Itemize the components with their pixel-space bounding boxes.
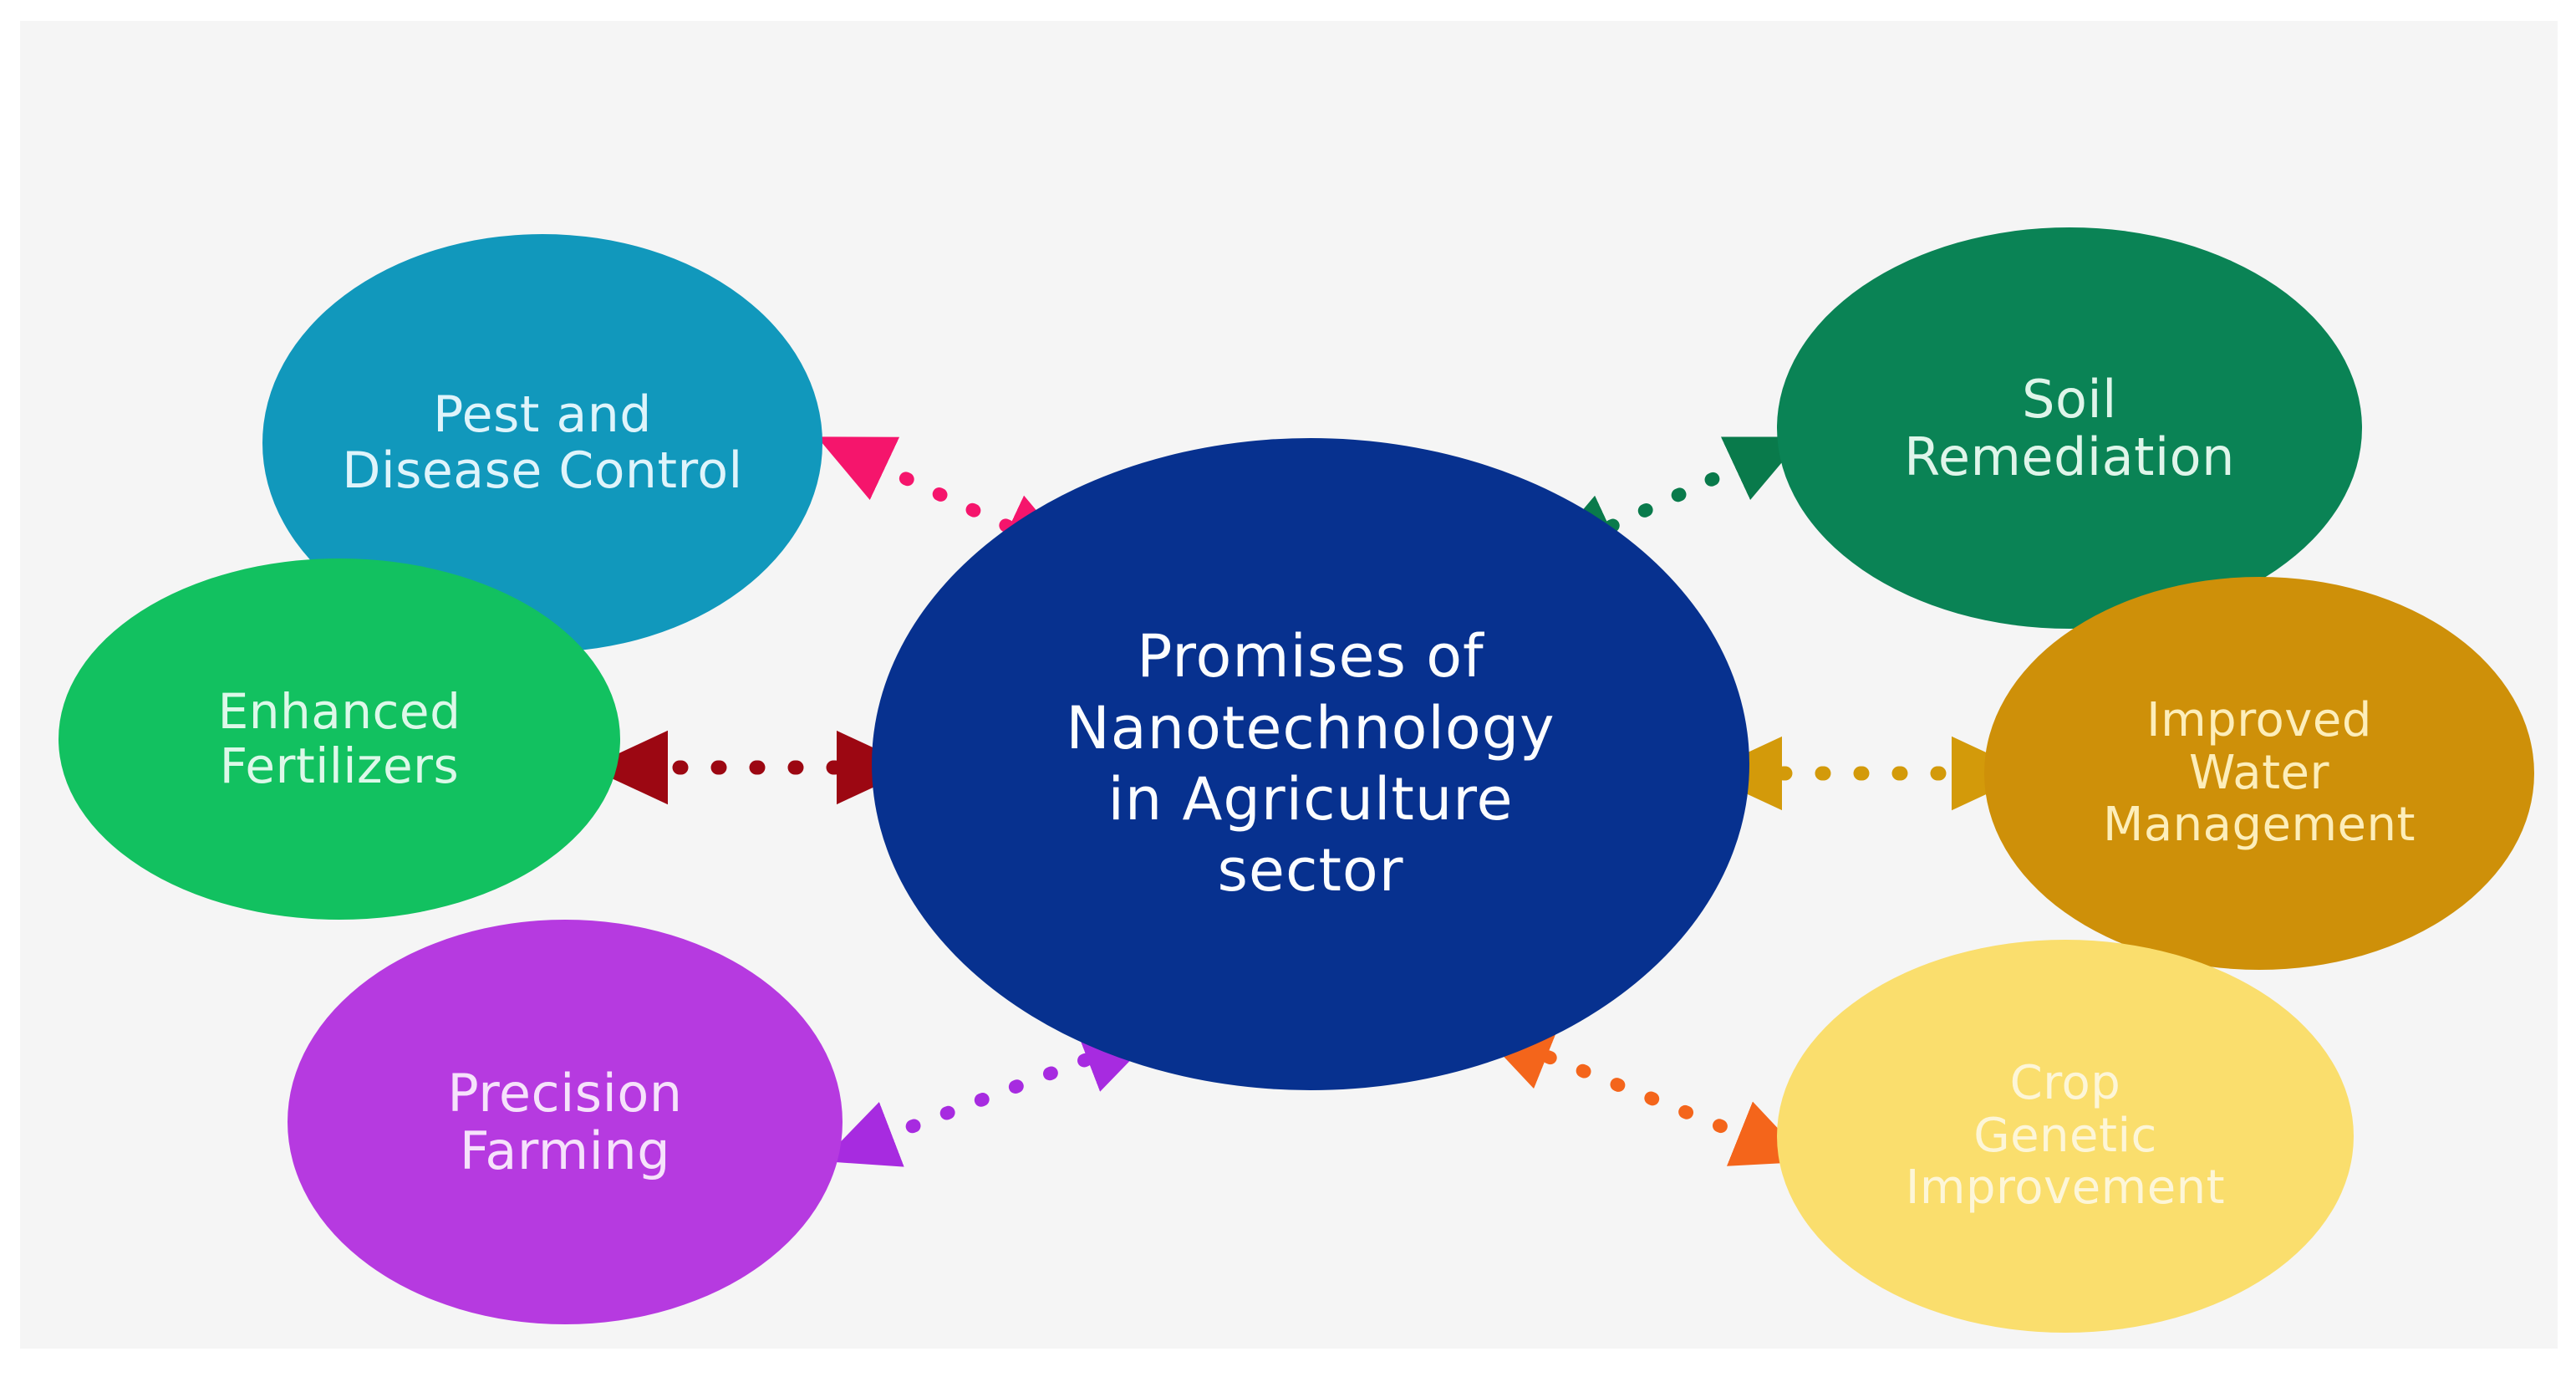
node-crop-genetic-improvement[interactable]: Crop Genetic Improvement [1777,940,2354,1333]
node-label-precision-farming: Precision Farming [447,1064,682,1181]
diagram-stage: Pest and Disease Control Enhanced Fertil… [0,0,2576,1377]
node-improved-water-management[interactable]: Improved Water Management [1984,577,2534,970]
node-central-promises-of-nanotechnology[interactable]: Promises of Nanotechnology in Agricultur… [872,438,1749,1090]
node-label-improved-water-management: Improved Water Management [2103,695,2416,852]
node-precision-farming[interactable]: Precision Farming [288,920,843,1324]
node-enhanced-fertilizers[interactable]: Enhanced Fertilizers [59,558,620,920]
node-label-enhanced-fertilizers: Enhanced Fertilizers [218,685,461,793]
node-label-central: Promises of Nanotechnology in Agricultur… [1066,621,1555,907]
node-label-pest-and-disease-control: Pest and Disease Control [342,387,742,499]
node-label-crop-genetic-improvement: Crop Genetic Improvement [1906,1058,2225,1215]
node-label-soil-remediation: Soil Remediation [1904,370,2235,487]
node-soil-remediation[interactable]: Soil Remediation [1777,227,2362,629]
